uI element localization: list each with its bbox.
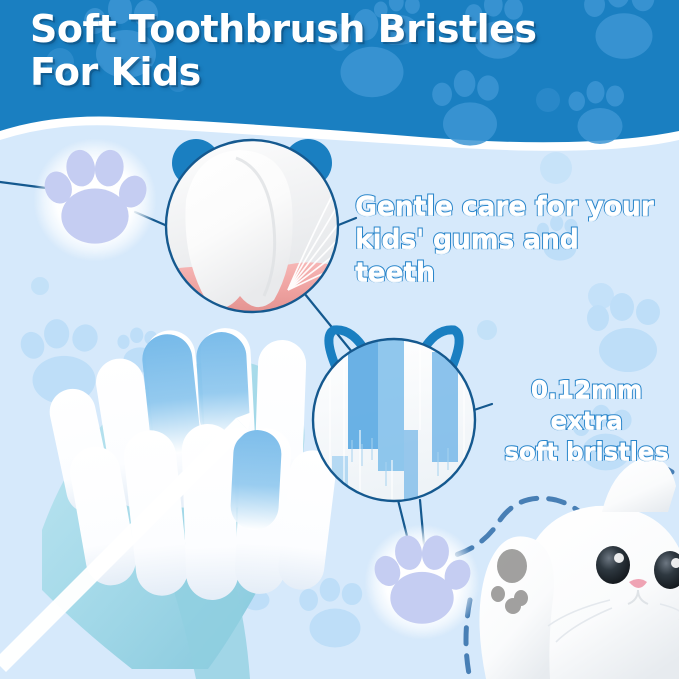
paw-badge-top [33, 138, 157, 262]
callout-soft-bristles: 0.12mm extra soft bristles [494, 374, 679, 467]
page-title: Soft Toothbrush Bristles For Kids [30, 8, 590, 94]
paw-pad-main [61, 189, 128, 244]
paw-badge-bottom [364, 524, 480, 640]
infographic-canvas: Soft Toothbrush Bristles For Kids Gentle… [0, 0, 679, 679]
tooth [185, 150, 292, 308]
cat-eye-left [596, 546, 630, 584]
artwork-layer [0, 0, 679, 679]
paw-pad-main [390, 572, 453, 624]
callout-gentle-care: Gentle care for your kids' gums and teet… [355, 191, 655, 290]
